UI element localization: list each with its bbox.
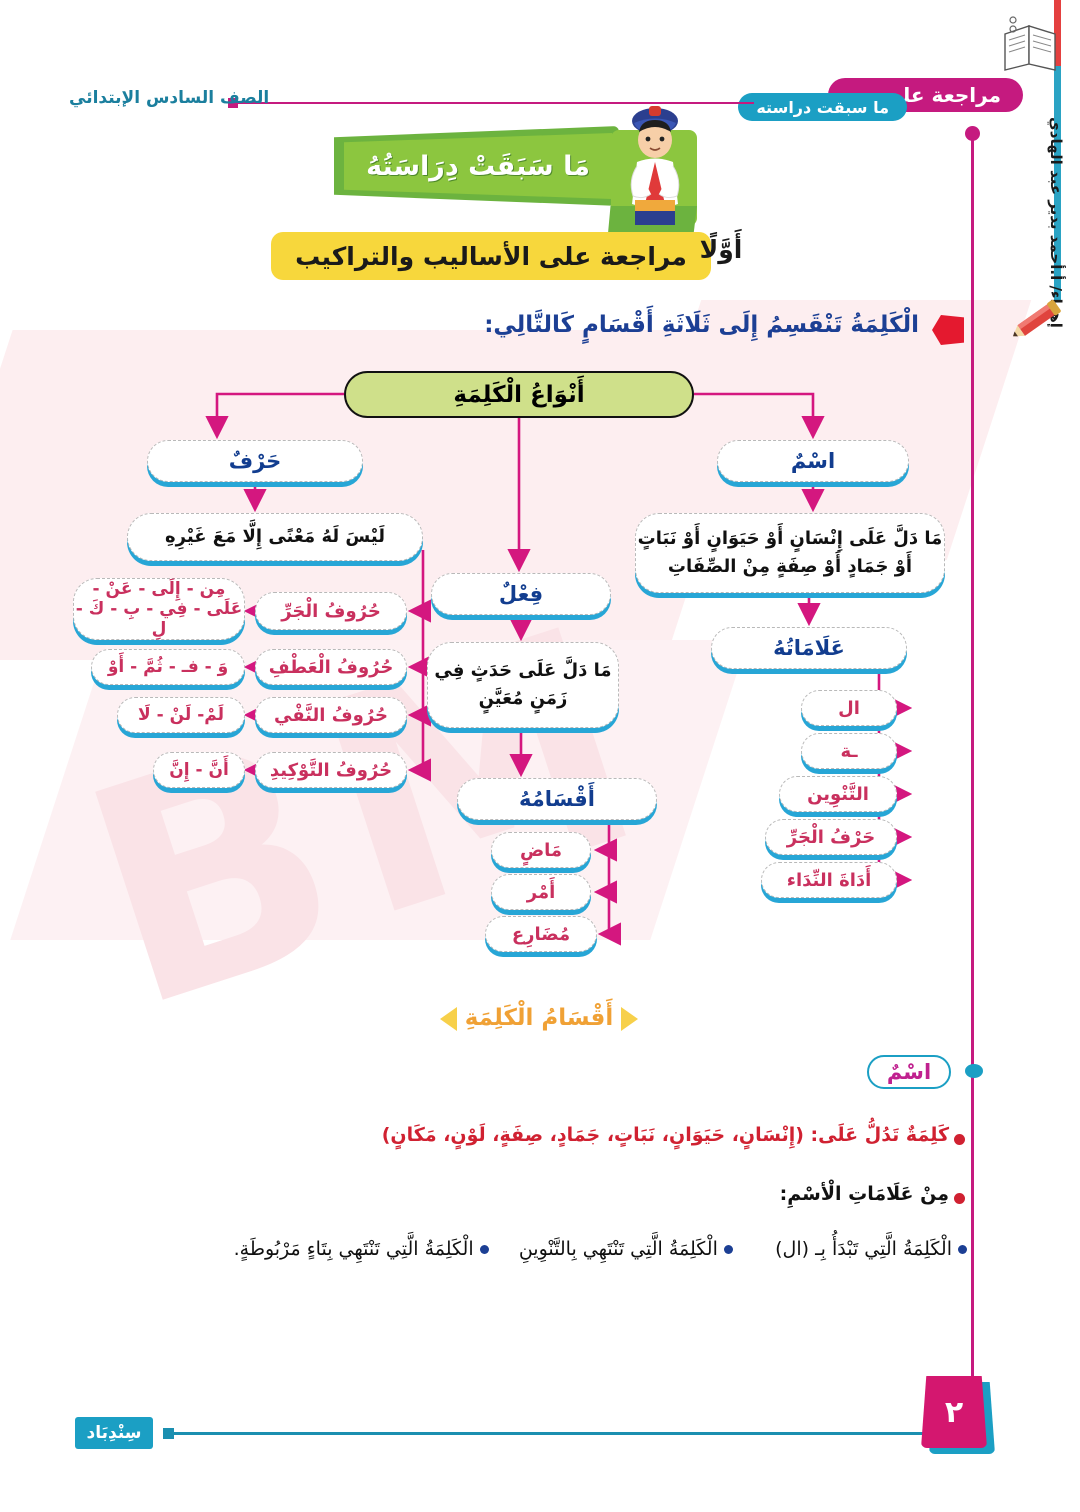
node-harf-definition-text: لَيْسَ لَهُ مَعْنًى إِلَّا مَعَ غَيْرِهِ bbox=[166, 523, 386, 551]
node-ism-mark-ta: ـة bbox=[802, 733, 898, 769]
notes-chip-ism: اسْمٌ bbox=[868, 1055, 952, 1089]
mark-3: الْكَلِمَةُ الَّتِي تَنْتَهِي بِتَاءٍ مَ… bbox=[235, 1238, 475, 1260]
triangle-right-icon bbox=[622, 1007, 639, 1031]
diamond-bullet-icon bbox=[933, 315, 965, 345]
section-banner: مراجعة على الأساليب والتراكيب bbox=[272, 232, 712, 280]
author-attribution: إهداء/ أ.أحمد بدير عبد الهادي bbox=[1026, 78, 1066, 328]
node-huruf-atf-values: وَ - فـ - ثُمَّ - أَوْ bbox=[92, 649, 246, 685]
mark-2: الْكَلِمَةُ الَّتِي تَنْتَهِي بِالتَّنْو… bbox=[520, 1238, 719, 1260]
note-line-2: مِنْ عَلَامَاتِ الْأسْمِ: bbox=[781, 1183, 950, 1205]
node-harf-label: حَرْفٌ bbox=[230, 449, 283, 473]
section-banner-label: مراجعة على الأساليب والتراكيب bbox=[296, 242, 688, 271]
title-banner: مَا سَبَقَتْ دِرَاسَتُهُ bbox=[345, 133, 613, 199]
node-fiel-definition: مَا دَلَّ عَلَى حَدَثٍ فِي زَمَنٍ مُعَيَ… bbox=[428, 642, 620, 728]
node-ism-mark-nida: أَدَاةَ النِّدَاء bbox=[762, 862, 898, 898]
node-huruf-tawkid-label: حُرُوفُ التَّوْكِيدِ bbox=[256, 752, 408, 788]
ism-mark-harf-jarr-text: حَرْفُ الْجَرِّ bbox=[788, 827, 876, 848]
node-ism-mark-harf-jarr: حَرْفُ الْجَرِّ bbox=[766, 819, 898, 855]
node-huruf-jarr-values: مِن - إِلَى - عَنْ - عَلَى - فِي - بِ - … bbox=[74, 578, 246, 640]
mark-bullet-2-icon bbox=[725, 1245, 734, 1254]
node-harf: حَرْفٌ bbox=[148, 440, 364, 482]
node-ism-mark-al: ال bbox=[802, 690, 898, 726]
boy-mascot-icon bbox=[616, 104, 696, 229]
node-ism-label: اسْمٌ bbox=[792, 449, 836, 473]
pencil-icon bbox=[1008, 296, 1066, 348]
intro-text: الْكَلِمَةُ تَنْقَسِمُ إِلَى ثَلَاثَةِ أ… bbox=[485, 312, 920, 338]
node-huruf-nafy-values: لَمْ- لَنْ - لَا bbox=[118, 697, 246, 733]
node-ism-definition: مَا دَلَّ عَلَى إِنْسَانٍ أَوْ حَيَوَانٍ… bbox=[636, 513, 946, 593]
ism-mark-nida-text: أَدَاةَ النِّدَاء bbox=[788, 870, 873, 891]
open-book-icon bbox=[1000, 12, 1062, 74]
huruf-jarr-label-text: حُرُوفُ الْجَرِّ bbox=[282, 601, 382, 622]
chart-root-node: أَنْوَاعُ الْكَلِمَةِ bbox=[345, 371, 695, 418]
fiel-item-amr-text: أَمْر bbox=[528, 882, 557, 903]
mark-bullet-1-icon bbox=[959, 1245, 968, 1254]
node-fiel: فِعْلٌ bbox=[432, 573, 612, 615]
huruf-atf-values-text: وَ - فـ - ثُمَّ - أَوْ bbox=[109, 657, 229, 677]
mark-bullet-3-icon bbox=[481, 1245, 490, 1254]
triangle-left-icon bbox=[441, 1007, 458, 1031]
node-ism-mark-tanween: التَّنْوِين bbox=[780, 776, 898, 812]
header-topic-label: ما سبقت دراسته bbox=[757, 98, 890, 117]
header-topic-ribbon: ما سبقت دراسته bbox=[739, 93, 908, 121]
node-ism: اسْمٌ bbox=[718, 440, 910, 482]
node-fiel-definition-text: مَا دَلَّ عَلَى حَدَثٍ فِي زَمَنٍ مُعَيَ… bbox=[429, 657, 619, 713]
note-marks-row: الْكَلِمَةُ الَّتِي تَبْدَأُ بِـ (ال) ال… bbox=[235, 1238, 968, 1260]
node-huruf-jarr-label: حُرُوفُ الْجَرِّ bbox=[256, 592, 408, 630]
huruf-tawkid-label-text: حُرُوفُ التَّوْكِيدِ bbox=[271, 760, 393, 781]
node-fiel-item-madi: مَاضٍ bbox=[492, 832, 592, 868]
page-title: مَا سَبَقَتْ دِرَاسَتُهُ bbox=[367, 151, 591, 182]
note-bullet-2-icon bbox=[955, 1193, 966, 1204]
ism-mark-tanween-text: التَّنْوِين bbox=[808, 784, 870, 805]
node-huruf-atf-label: حُرُوفُ الْعَطْفِ bbox=[256, 649, 408, 685]
footer-rule bbox=[170, 1432, 940, 1435]
page-spine bbox=[972, 130, 975, 1385]
node-fiel-item-amr: أَمْر bbox=[492, 874, 592, 910]
footer-logo: سِنْدِبَاد bbox=[76, 1417, 154, 1449]
node-huruf-nafy-label: حُرُوفُ النَّفْي bbox=[256, 697, 408, 733]
notes-divider-label: أَقْسَامُ الْكَلِمَةِ bbox=[466, 1005, 615, 1031]
fiel-item-mudari-text: مُضَارِع bbox=[513, 924, 571, 945]
ism-mark-al-text: ال bbox=[839, 698, 861, 719]
node-alamat-label: عَلَامَاتُهُ bbox=[774, 636, 846, 660]
huruf-atf-label-text: حُرُوفُ الْعَطْفِ bbox=[270, 657, 395, 678]
mark-1: الْكَلِمَةُ الَّتِي تَبْدَأُ بِـ (ال) bbox=[776, 1238, 953, 1260]
node-alamat: عَلَامَاتُهُ bbox=[712, 627, 908, 669]
note-line-1: كَلِمَةٌ تَدُلُّ عَلَى: (إِنْسَانٍ، حَيَ… bbox=[383, 1124, 950, 1146]
huruf-jarr-values-text: مِن - إِلَى - عَنْ - عَلَى - فِي - بِ - … bbox=[75, 579, 245, 639]
notes-chip-dot-icon bbox=[966, 1064, 984, 1078]
node-ism-definition-text: مَا دَلَّ عَلَى إِنْسَانٍ أَوْ حَيَوَانٍ… bbox=[637, 525, 945, 581]
huruf-tawkid-values-text: أَنَّ - إِنَّ bbox=[170, 760, 230, 780]
node-fiel-item-mudari: مُضَارِع bbox=[486, 916, 598, 952]
section-order-badge: أَوَّلًا bbox=[690, 218, 754, 280]
node-fiel-label: فِعْلٌ bbox=[500, 582, 544, 606]
grade-label: الصف السادس الإبتدائي bbox=[70, 88, 270, 108]
huruf-nafy-values-text: لَمْ- لَنْ - لَا bbox=[139, 705, 225, 725]
node-harf-definition: لَيْسَ لَهُ مَعْنًى إِلَّا مَعَ غَيْرِهِ bbox=[128, 513, 424, 561]
node-huruf-tawkid-values: أَنَّ - إِنَّ bbox=[154, 752, 246, 788]
node-aqsam-label: أَقْسَامُهُ bbox=[520, 787, 596, 811]
notes-divider: أَقْسَامُ الْكَلِمَةِ bbox=[0, 1005, 1080, 1031]
huruf-nafy-label-text: حُرُوفُ النَّفْي bbox=[275, 705, 389, 726]
fiel-item-madi-text: مَاضٍ bbox=[521, 840, 563, 861]
ism-mark-ta-text: ـة bbox=[841, 741, 858, 762]
page-number-badge: ٢ bbox=[922, 1376, 988, 1448]
note-bullet-1-icon bbox=[955, 1134, 966, 1145]
node-aqsam: أَقْسَامُهُ bbox=[458, 778, 658, 820]
